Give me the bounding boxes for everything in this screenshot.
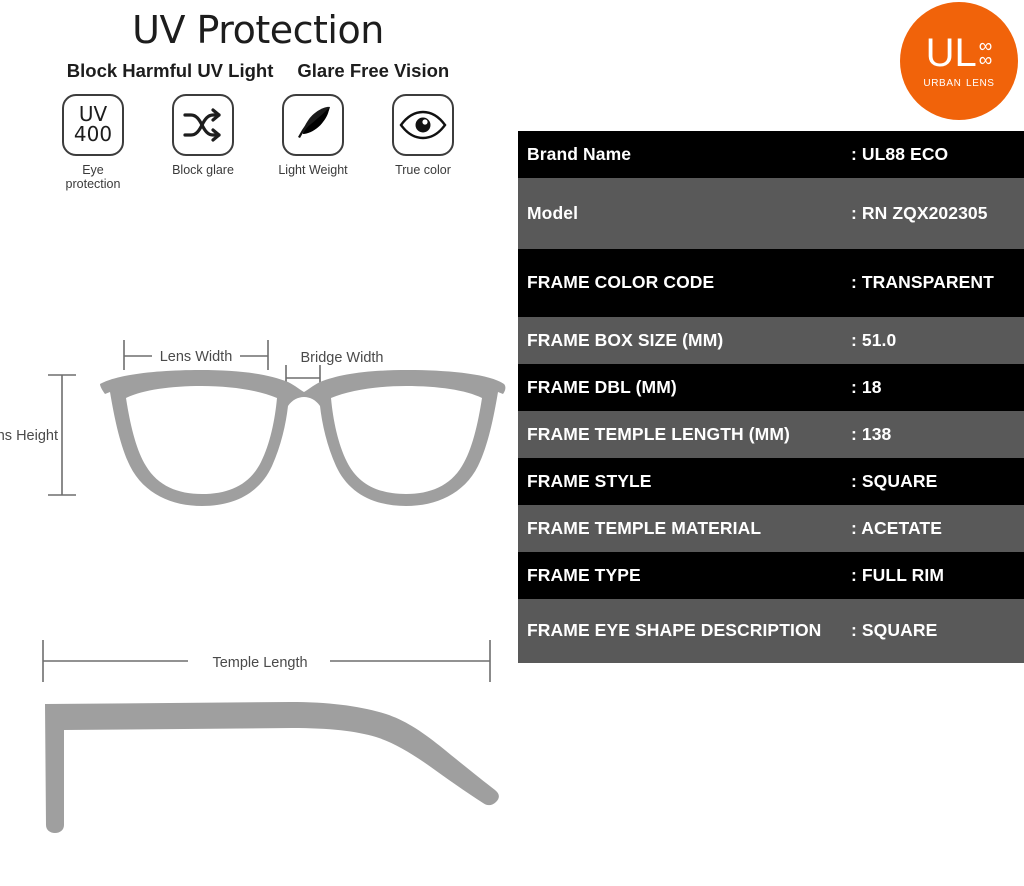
uv-subtitle-row: Block Harmful UV Light Glare Free Vision (0, 60, 516, 82)
eye-icon (392, 94, 454, 156)
spec-value: : SQUARE (851, 621, 1024, 641)
spec-value: : FULL RIM (851, 566, 1024, 586)
spec-value: : 138 (851, 425, 1024, 445)
uv-feature-block-glare: Block glare (166, 94, 240, 191)
table-row: FRAME DBL (MM) : 18 (518, 364, 1024, 411)
table-row: FRAME BOX SIZE (MM) : 51.0 (518, 317, 1024, 364)
spec-value: : RN ZQX202305 (851, 204, 1024, 224)
uv-subtitle-block-uv: Block Harmful UV Light (67, 60, 274, 82)
temple-length-label: Temple Length (212, 655, 307, 671)
uv400-icon: UV 400 (62, 94, 124, 156)
uv-panel-title: UV Protection (0, 0, 516, 52)
uv-feature-caption: Light Weight (276, 163, 350, 177)
table-row: FRAME EYE SHAPE DESCRIPTION : SQUARE (518, 599, 1024, 663)
uv-feature-caption: Block glare (166, 163, 240, 177)
table-row: FRAME TEMPLE LENGTH (MM) : 138 (518, 411, 1024, 458)
table-row: Model : RN ZQX202305 (518, 178, 1024, 249)
spec-key: FRAME TEMPLE MATERIAL (518, 519, 851, 539)
table-row: FRAME COLOR CODE : TRANSPARENT (518, 249, 1024, 317)
table-row: FRAME STYLE : SQUARE (518, 458, 1024, 505)
table-row: FRAME TYPE : FULL RIM (518, 552, 1024, 599)
spec-key: FRAME DBL (MM) (518, 378, 851, 398)
spec-value: : 18 (851, 378, 1024, 398)
spec-value: : ACETATE (851, 519, 1024, 539)
spec-key: Model (518, 204, 851, 224)
infinity-bottom: ∞ (979, 54, 993, 68)
uv-feature-true-color: True color (386, 94, 460, 191)
uv-protection-panel: UV Protection Block Harmful UV Light Gla… (0, 0, 516, 191)
feather-icon (282, 94, 344, 156)
spec-value: : UL88 ECO (851, 145, 1024, 165)
lens-height-label: Lens Height (0, 428, 58, 444)
spec-value: : TRANSPARENT (851, 273, 1024, 293)
uv-feature-list: UV 400 Eye protection Block glare (0, 94, 516, 191)
logo-mark: UL ∞ ∞ (926, 33, 993, 73)
lens-width-label: Lens Width (160, 349, 233, 365)
spec-key: FRAME TEMPLE LENGTH (MM) (518, 425, 851, 445)
product-spec-page: UV Protection Block Harmful UV Light Gla… (0, 0, 1024, 886)
logo-subtitle: Urban Lens (923, 74, 994, 90)
table-row: Brand Name : UL88 ECO (518, 131, 1024, 178)
uv400-text: UV 400 (74, 105, 112, 144)
spec-key: Brand Name (518, 145, 851, 165)
spec-value: : SQUARE (851, 472, 1024, 492)
uv-subtitle-glare-free: Glare Free Vision (297, 60, 449, 82)
spec-key: FRAME COLOR CODE (518, 273, 851, 293)
spec-value: : 51.0 (851, 331, 1024, 351)
temple-length-diagram: Temple Length (0, 620, 516, 850)
frame-spec-table: Brand Name : UL88 ECO Model : RN ZQX2023… (518, 131, 1024, 663)
bridge-width-label: Bridge Width (300, 350, 383, 366)
table-row: FRAME TEMPLE MATERIAL : ACETATE (518, 505, 1024, 552)
eyeglass-frame-shape (100, 370, 505, 506)
double-infinity-icon: ∞ ∞ (979, 40, 993, 67)
spec-key: FRAME BOX SIZE (MM) (518, 331, 851, 351)
shuffle-arrows-icon (172, 94, 234, 156)
frame-front-diagram: Lens Width Bridge Width Lens Height (0, 320, 516, 560)
spec-key: FRAME STYLE (518, 472, 851, 492)
uv-feature-eye-protection: UV 400 Eye protection (56, 94, 130, 191)
temple-arm-shape (45, 702, 499, 833)
spec-key: FRAME TYPE (518, 566, 851, 586)
uv400-line2: 400 (74, 125, 112, 145)
brand-logo-badge[interactable]: UL ∞ ∞ Urban Lens (900, 2, 1018, 120)
spec-key: FRAME EYE SHAPE DESCRIPTION (518, 621, 851, 641)
uv-feature-caption: True color (386, 163, 460, 177)
uv-feature-caption: Eye protection (56, 163, 130, 191)
uv-feature-light-weight: Light Weight (276, 94, 350, 191)
logo-ul-text: UL (926, 33, 977, 73)
